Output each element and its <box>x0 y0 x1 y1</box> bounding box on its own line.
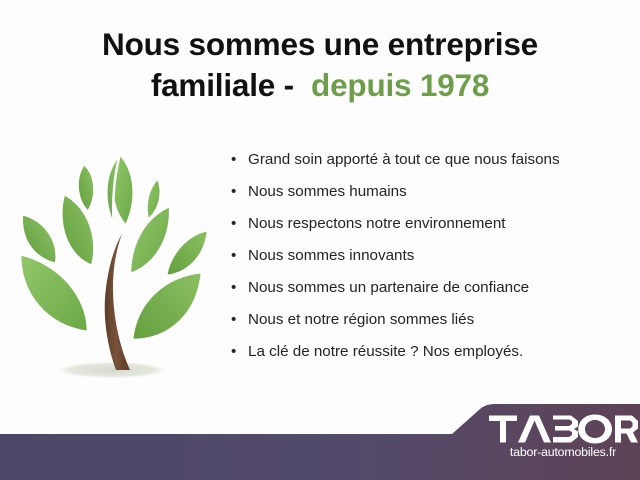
list-item-label: Nous sommes un partenaire de confiance <box>248 279 529 296</box>
title-line-2: familiale - depuis 1978 <box>0 67 640 104</box>
title-line-1: Nous sommes une entreprise <box>0 26 640 63</box>
list-item-label: Grand soin apporté à tout ce que nous fa… <box>248 151 560 168</box>
list-item-label: Nous sommes innovants <box>248 247 414 264</box>
list-item: • La clé de notre réussite ? Nos employé… <box>230 342 630 362</box>
footer-shape <box>0 400 640 480</box>
list-item-label: Nous sommes humains <box>248 183 407 200</box>
slide-canvas: Nous sommes une entreprise familiale - d… <box>0 0 640 480</box>
bullet-icon: • <box>231 150 236 170</box>
list-item: • Nous sommes un partenaire de confiance <box>230 278 630 298</box>
title-dash: - <box>284 67 294 103</box>
bullet-icon: • <box>231 342 236 362</box>
list-item: • Grand soin apporté à tout ce que nous … <box>230 150 630 170</box>
list-item: • Nous sommes innovants <box>230 246 630 266</box>
list-item-label: Nous et notre région sommes liés <box>248 311 474 328</box>
title-line-2-prefix: familiale <box>151 67 275 103</box>
list-item: • Nous et notre région sommes liés <box>230 310 630 330</box>
list-item-label: Nous respectons notre environnement <box>248 215 506 232</box>
bullet-icon: • <box>231 182 236 202</box>
values-list: • Grand soin apporté à tout ce que nous … <box>230 150 630 374</box>
bullet-icon: • <box>231 310 236 330</box>
list-item: • Nous respectons notre environnement <box>230 214 630 234</box>
tree-trunk <box>105 234 130 370</box>
tree-shadow <box>52 361 172 379</box>
footer-background <box>0 404 640 480</box>
page-title: Nous sommes une entreprise familiale - d… <box>0 26 640 104</box>
bullet-icon: • <box>231 278 236 298</box>
list-item: • Nous sommes humains <box>230 182 630 202</box>
footer-bar <box>0 400 640 480</box>
tree-icon <box>12 142 218 392</box>
tree-illustration <box>12 142 218 392</box>
bullet-icon: • <box>231 246 236 266</box>
title-accent: depuis 1978 <box>311 67 489 103</box>
bullet-icon: • <box>231 214 236 234</box>
list-item-label: La clé de notre réussite ? Nos employés. <box>248 343 523 360</box>
